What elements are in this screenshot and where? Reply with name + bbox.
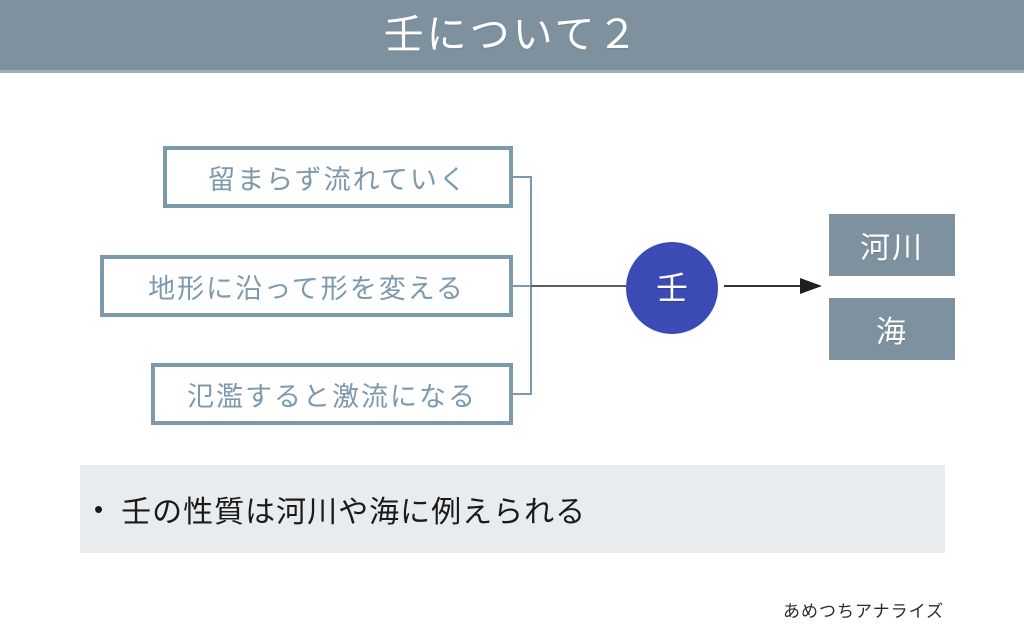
header-divider [0, 70, 1024, 73]
cause-box-2: 地形に沿って形を変える [100, 255, 513, 317]
bullet-icon: • [94, 496, 103, 522]
result-box-river-label: 河川 [860, 223, 924, 267]
summary-panel: • 壬の性質は河川や海に例えられる [80, 465, 945, 553]
cause-box-1-label: 留まらず流れていく [208, 158, 468, 197]
slide-header-bar: 壬について２ [0, 0, 1024, 70]
result-box-river: 河川 [829, 214, 955, 276]
cause-box-3-label: 氾濫すると激流になる [187, 375, 477, 414]
cause-box-1: 留まらず流れていく [163, 146, 513, 208]
cause-box-3: 氾濫すると激流になる [151, 363, 513, 425]
slide-canvas: 壬について２ 留まらず流れていく 地形に沿って形を変える 氾濫すると激流になる … [0, 0, 1024, 640]
center-node-circle: 壬 [626, 242, 718, 334]
cause-box-2-label: 地形に沿って形を変える [148, 267, 465, 306]
result-box-sea: 海 [829, 298, 955, 360]
page-title: 壬について２ [384, 15, 641, 55]
center-node-label: 壬 [656, 272, 688, 304]
summary-bullet-row: • 壬の性質は河川や海に例えられる [80, 487, 586, 531]
summary-text: 壬の性質は河川や海に例えられる [121, 487, 586, 531]
footer-watermark: あめつちアナライズ [783, 597, 944, 622]
result-box-sea-label: 海 [876, 307, 908, 351]
